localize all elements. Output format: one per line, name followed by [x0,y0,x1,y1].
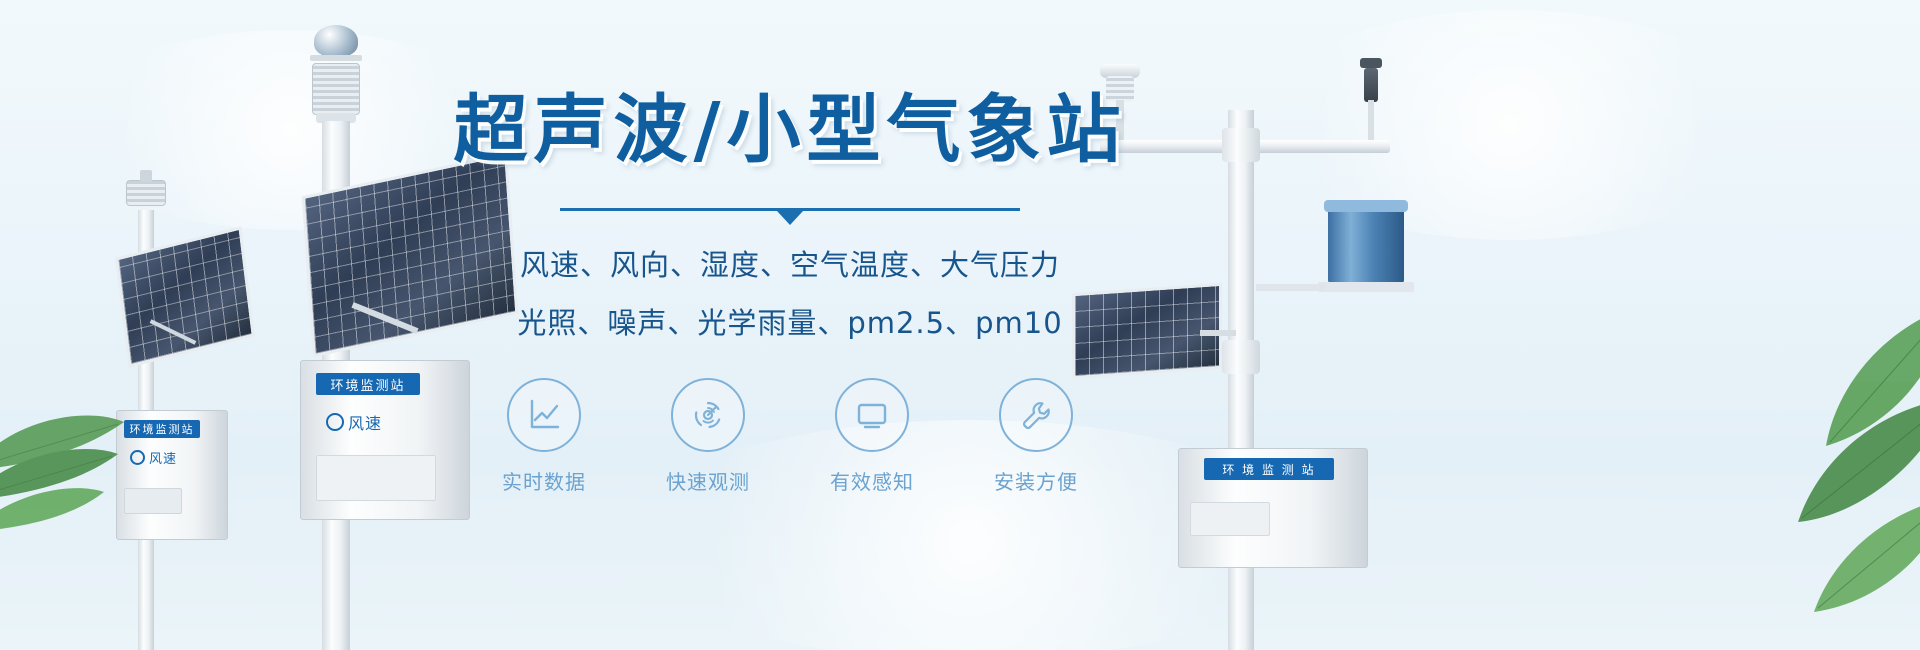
station-mast [1228,110,1254,650]
feature-label: 实时数据 [484,466,604,495]
feature-label: 有效感知 [812,466,932,495]
cabinet-brand-tag: 风速 [326,410,382,434]
feature-item-fast-observation[interactable]: 快速观测 [648,378,768,495]
cabinet-door [1190,502,1270,536]
subtitle-line-2: 光照、噪声、光学雨量、pm2.5、pm10 [430,300,1150,342]
wrench-icon [1016,395,1056,435]
sensor-head [126,180,166,206]
feature-icon-circle [999,378,1073,452]
probe-sensor-body [1364,68,1378,102]
sensor-collar [310,55,362,61]
feature-icon-circle [507,378,581,452]
cabinet-door [316,455,436,501]
monitor-icon [852,395,892,435]
product-banner: 环境监测站 风速 环境监测站 风速 超声波/小型气象站 [0,0,1920,650]
leaf-decoration-right [1740,290,1920,650]
feature-item-effective-sensing[interactable]: 有效感知 [812,378,932,495]
mast-clamp [1222,340,1260,374]
radiation-shield [312,63,360,115]
brand-logo-icon [326,413,344,431]
title-divider [560,204,1020,224]
rain-gauge-arm [1256,284,1326,291]
feature-item-realtime-data[interactable]: 实时数据 [484,378,604,495]
divider-arrow-icon [777,211,803,225]
subtitle-line-1: 风速、风向、湿度、空气温度、大气压力 [430,242,1150,284]
dome-sensor-icon [314,25,358,57]
feature-list: 实时数据 快速观测 [430,378,1150,495]
feature-label: 安装方便 [976,466,1096,495]
panel-mount-arm [1200,330,1236,336]
feature-item-easy-install[interactable]: 安装方便 [976,378,1096,495]
radar-scan-icon [688,395,728,435]
rain-gauge-rim [1324,200,1408,212]
rain-gauge [1328,206,1404,284]
sensor-top-cap [140,170,152,182]
page-title: 超声波/小型气象站 [430,92,1150,170]
mast-clamp [1222,128,1260,162]
probe-sensor-top [1360,58,1382,68]
leaf-decoration-left [0,330,190,530]
feature-label: 快速观测 [648,466,768,495]
banner-content: 超声波/小型气象站 风速、风向、湿度、空气温度、大气压力 光照、噪声、光学雨量、… [430,92,1150,495]
rain-gauge-base-plate [1318,282,1414,292]
feature-icon-circle [835,378,909,452]
feature-icon-circle [671,378,745,452]
line-chart-icon [524,395,564,435]
cabinet-station-tag: 环境监测站 [316,373,420,395]
cabinet-station-tag: 环 境 监 测 站 [1204,458,1334,480]
